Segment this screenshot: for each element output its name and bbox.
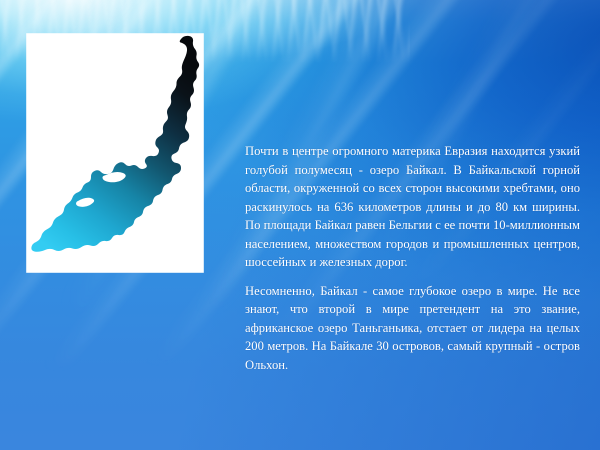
presentation-slide: Почти в центре огромного материка Еврази…	[0, 0, 600, 450]
body-text: Почти в центре огромного материка Еврази…	[245, 142, 580, 374]
paragraph-2: Несомненно, Байкал - самое глубокое озер…	[245, 282, 580, 375]
lake-baikal-map	[26, 33, 204, 273]
paragraph-1: Почти в центре огромного материка Еврази…	[245, 142, 580, 272]
